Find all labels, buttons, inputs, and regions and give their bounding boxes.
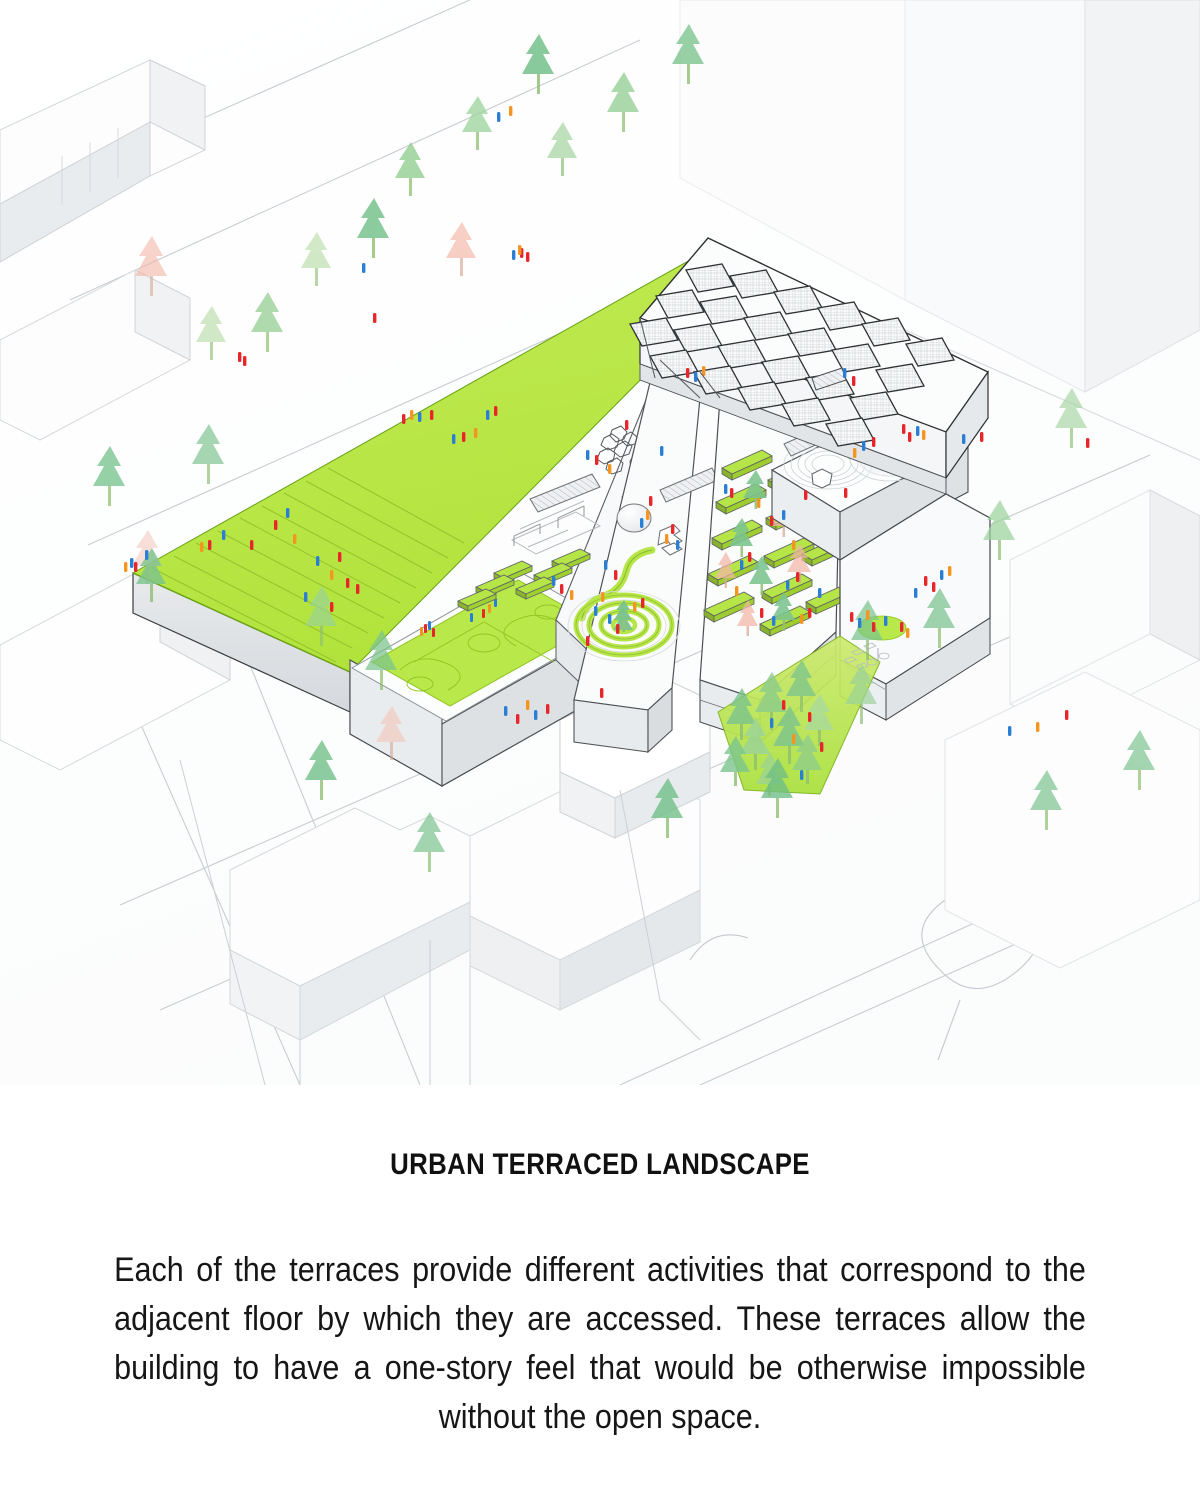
page-title: URBAN TERRACED LANDSCAPE <box>84 1085 1116 1182</box>
caption-body-text: Each of the terraces provide different a… <box>114 1182 1086 1442</box>
architectural-illustration <box>0 0 1200 1085</box>
axonometric-diagram-svg <box>0 0 1200 1085</box>
garden-dome <box>617 504 651 532</box>
caption-block: URBAN TERRACED LANDSCAPE Each of the ter… <box>0 1085 1200 1495</box>
